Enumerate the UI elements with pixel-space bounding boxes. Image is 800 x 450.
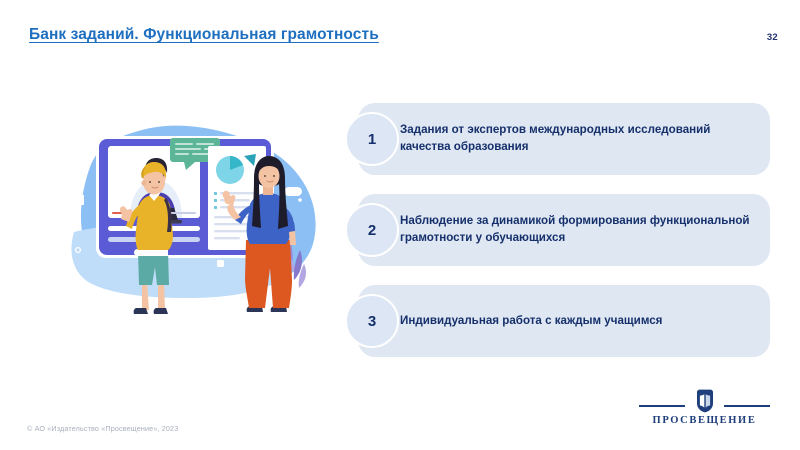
numbered-cards-list: 1 Задания от экспертов международных исс… — [345, 103, 770, 376]
slide: Банк заданий. Функциональная грамотность… — [0, 0, 800, 450]
online-learning-illustration — [38, 92, 338, 362]
logo-wordmark: ПРОСВЕЩЕНИЕ — [637, 415, 772, 426]
logo-rule-right — [724, 405, 770, 407]
card-number-badge: 1 — [345, 112, 399, 166]
list-item[interactable]: 1 Задания от экспертов международных исс… — [345, 103, 770, 175]
logo-mark-row — [637, 388, 772, 414]
book-shield-icon — [695, 389, 715, 413]
logo-rule-left — [639, 405, 685, 407]
prosveshchenie-logo: ПРОСВЕЩЕНИЕ — [637, 388, 772, 432]
card-number-badge: 2 — [345, 203, 399, 257]
list-item[interactable]: 2 Наблюдение за динамикой формирования ф… — [345, 194, 770, 266]
page-number: 32 — [767, 32, 778, 43]
card-text: Индивидуальная работа с каждым учащимся — [400, 285, 754, 357]
copyright-notice: © АО «Издательство «Просвещение», 2023 — [27, 424, 178, 433]
card-number-badge: 3 — [345, 294, 399, 348]
card-text: Наблюдение за динамикой формирования фун… — [400, 194, 754, 266]
card-text: Задания от экспертов международных иссле… — [400, 103, 754, 175]
page-title: Банк заданий. Функциональная грамотность — [29, 26, 379, 44]
list-item[interactable]: 3 Индивидуальная работа с каждым учащимс… — [345, 285, 770, 357]
